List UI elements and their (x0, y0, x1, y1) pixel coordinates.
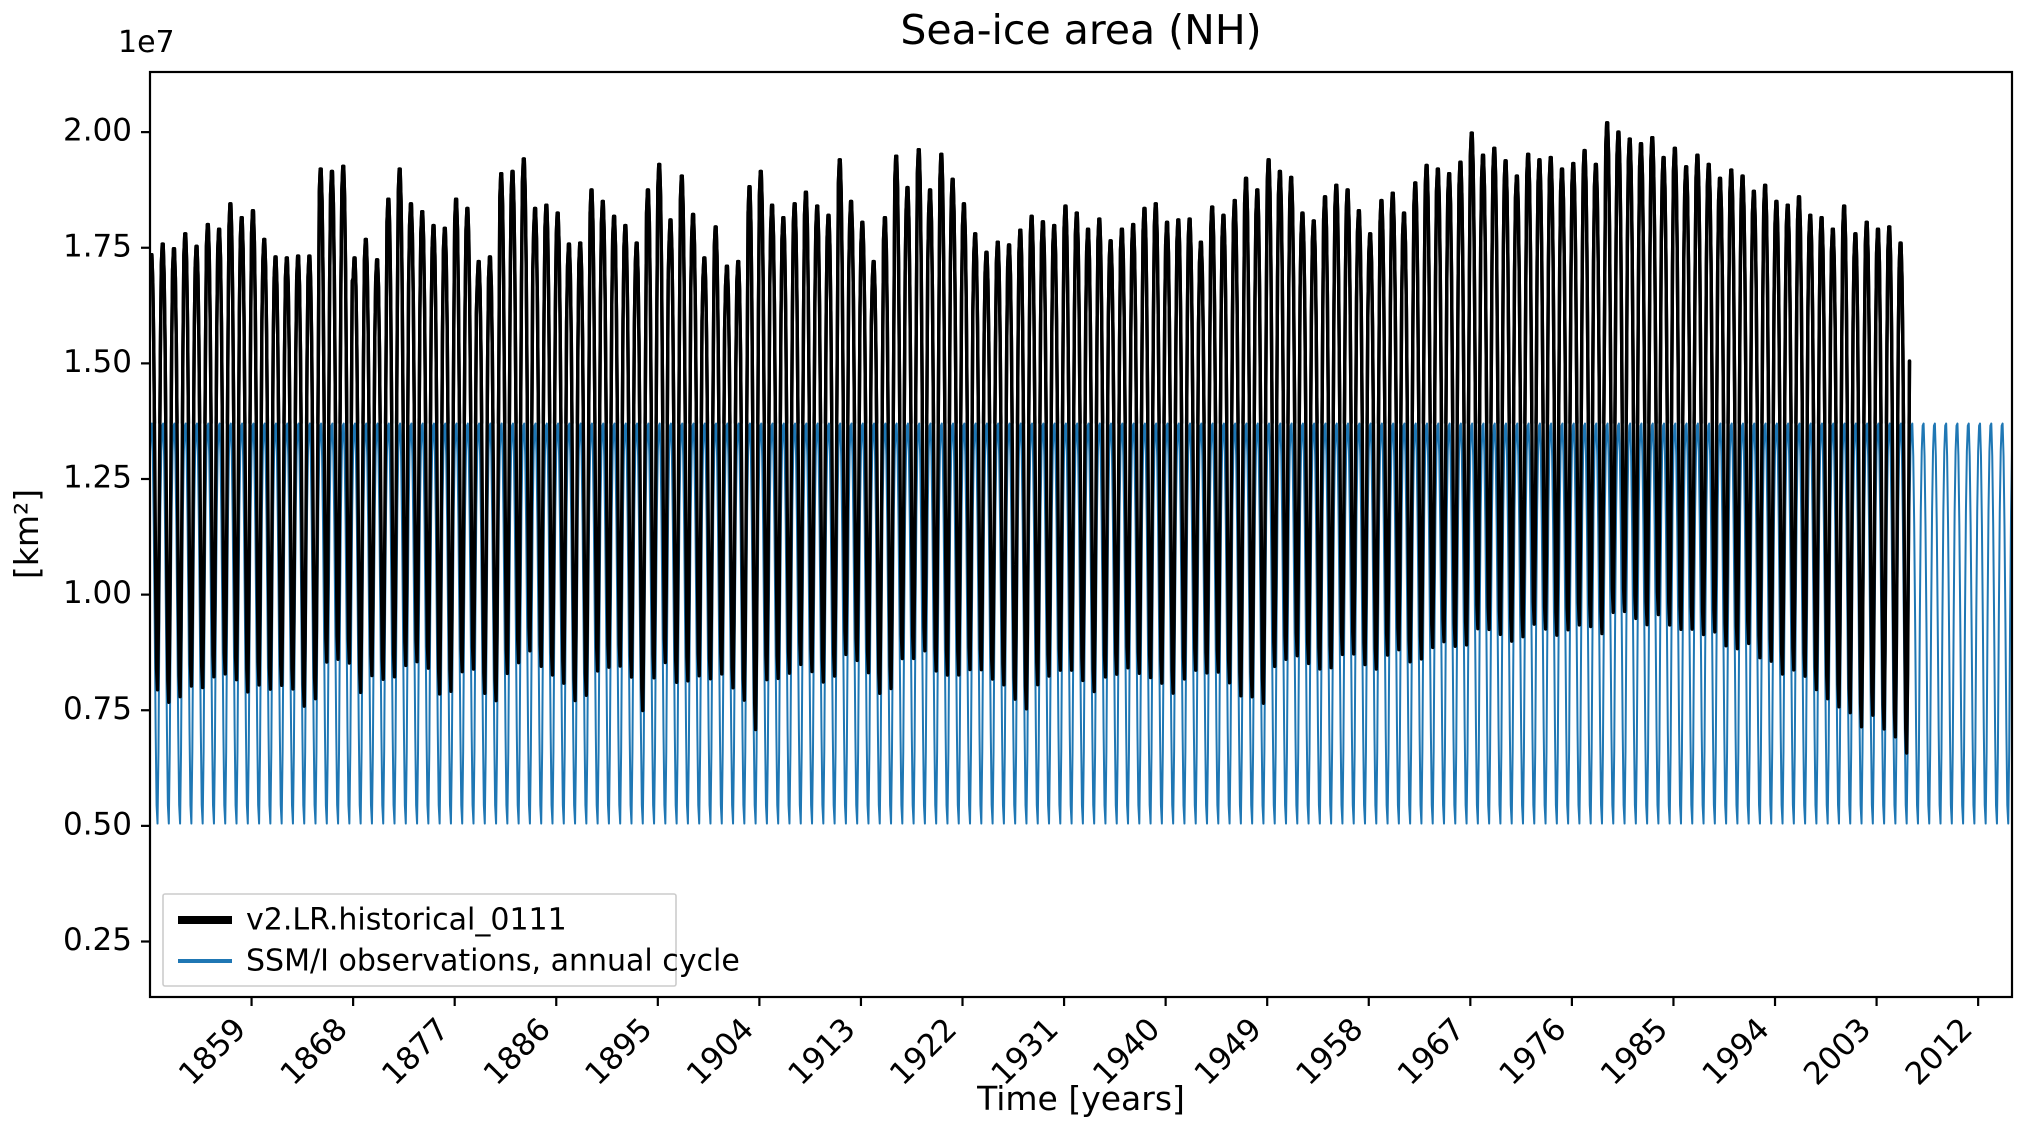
y-tick-label: 0.25 (63, 922, 132, 958)
x-axis-label: Time [years] (976, 1079, 1185, 1118)
y-tick-label: 1.75 (63, 228, 132, 264)
y-tick-label: 0.50 (63, 806, 132, 842)
y-tick-label: 0.75 (63, 691, 132, 727)
figure-root: Sea-ice area (NH) 1e7 0.250.500.751.001.… (0, 0, 2035, 1141)
y-tick-label: 1.25 (63, 460, 132, 496)
sea-ice-area-chart: Sea-ice area (NH) 1e7 0.250.500.751.001.… (0, 0, 2035, 1141)
legend-label-observations: SSM/I observations, annual cycle (246, 944, 740, 979)
y-axis-label: [km²] (7, 489, 46, 579)
y-tick-label: 2.00 (63, 113, 132, 149)
y-tick-label: 1.00 (63, 575, 132, 611)
page-title: Sea-ice area (NH) (900, 6, 1261, 54)
y-tick-label: 1.50 (63, 344, 132, 380)
legend-label-model: v2.LR.historical_0111 (246, 903, 567, 938)
legend[interactable]: v2.LR.historical_0111 SSM/I observations… (163, 894, 740, 986)
y-axis-offset-label: 1e7 (118, 25, 175, 60)
